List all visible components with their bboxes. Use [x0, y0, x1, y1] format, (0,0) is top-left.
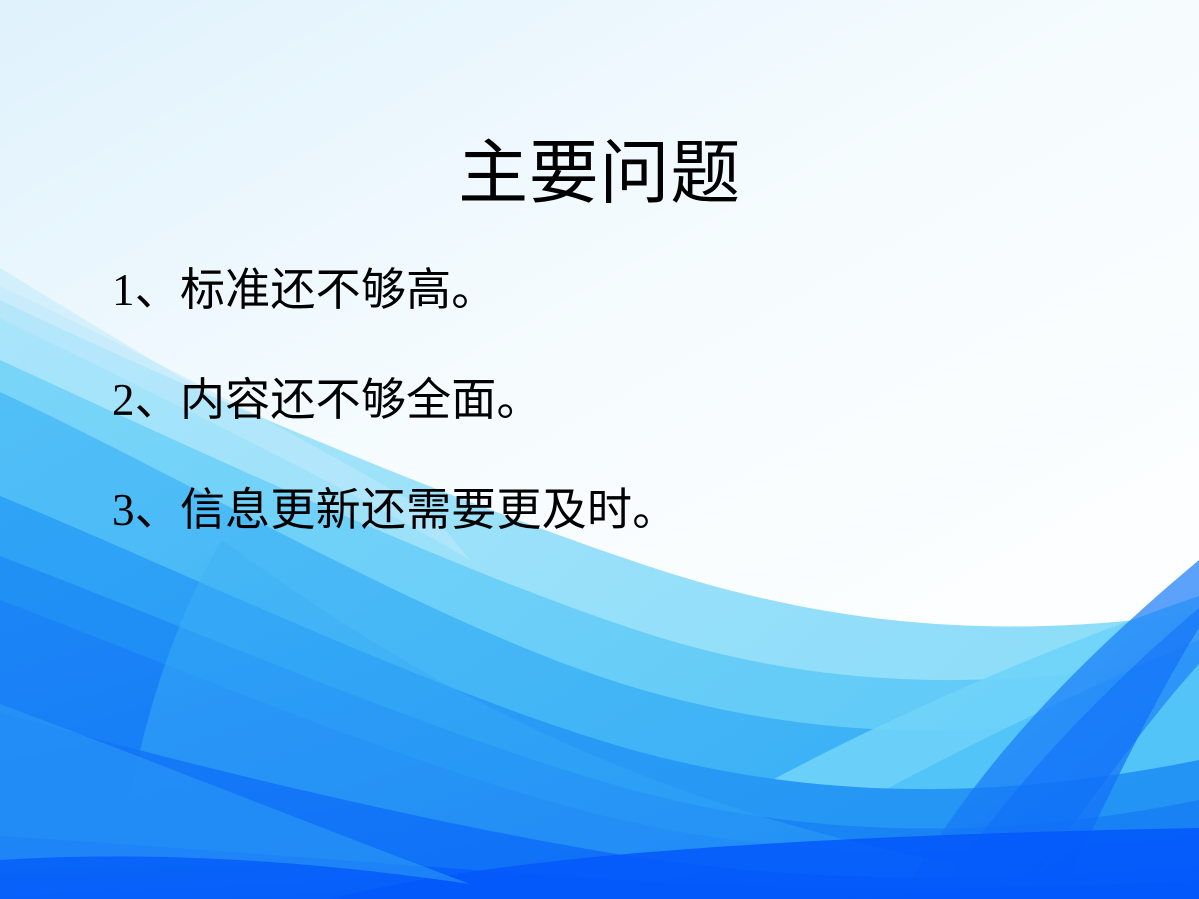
presentation-slide: 主要问题 1、标准还不够高。 2、内容还不够全面。 3、信息更新还需要更及时。 [0, 0, 1199, 899]
page-title: 主要问题 [0, 134, 1199, 217]
slide-content: 主要问题 1、标准还不够高。 2、内容还不够全面。 3、信息更新还需要更及时。 [0, 0, 1199, 899]
list-item: 1、标准还不够高。 [112, 268, 1132, 313]
list-item: 3、信息更新还需要更及时。 [112, 488, 1132, 533]
list-item: 2、内容还不够全面。 [112, 378, 1132, 423]
bullet-list: 1、标准还不够高。 2、内容还不够全面。 3、信息更新还需要更及时。 [112, 268, 1132, 533]
